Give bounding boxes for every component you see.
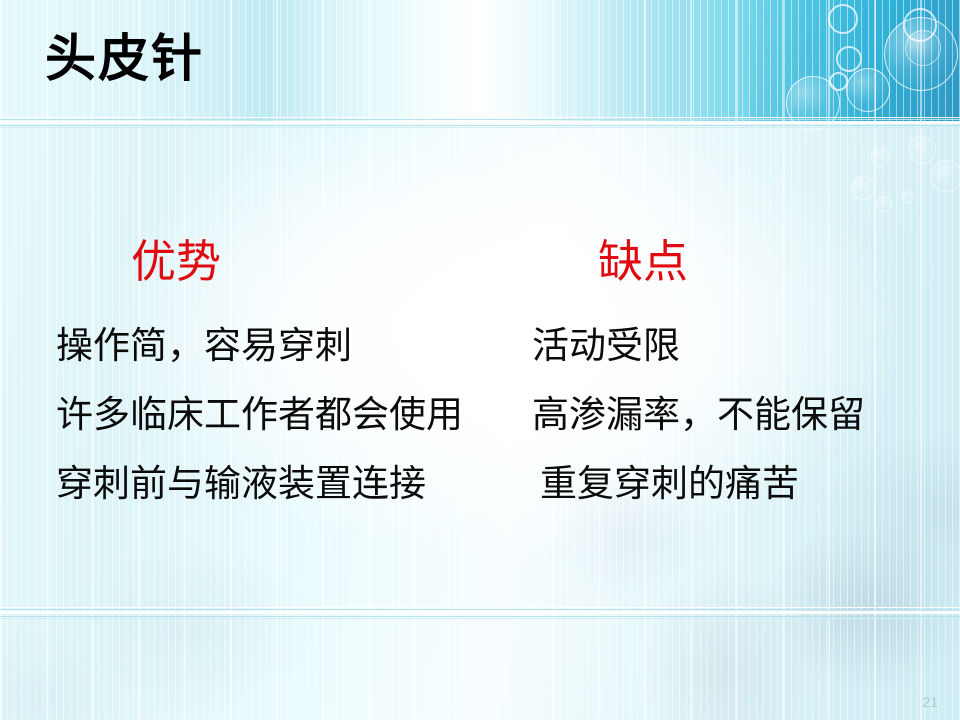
list-item: 活动受限 xyxy=(532,312,865,381)
title-divider-gap xyxy=(0,121,960,124)
title-divider-top-highlight xyxy=(0,117,960,118)
disadvantages-list: 活动受限 高渗漏率，不能保留 重复穿刺的痛苦 xyxy=(532,312,865,519)
list-item: 穿刺前与输液装置连接 xyxy=(56,450,463,519)
footer-divider-top-highlight xyxy=(0,607,960,608)
footer-divider-line-3 xyxy=(0,618,960,619)
title-divider-line-3 xyxy=(0,127,960,128)
list-item: 操作简，容易穿刺 xyxy=(56,312,463,381)
footer-divider-gap xyxy=(0,611,960,614)
title-divider-line-1 xyxy=(0,119,960,120)
footer-divider-line-1 xyxy=(0,609,960,610)
page-number: 21 xyxy=(922,694,938,710)
slide-title: 头皮针 xyxy=(45,31,204,89)
slide-canvas: 头皮针 优势 缺点 操作简，容易穿刺 许多临床工作者都会使用 穿刺前与输液装置连… xyxy=(0,0,960,720)
list-item: 许多临床工作者都会使用 xyxy=(56,381,463,450)
title-divider-line-2 xyxy=(0,125,960,126)
disadvantages-heading: 缺点 xyxy=(598,237,688,287)
advantages-heading: 优势 xyxy=(131,237,221,287)
list-item: 重复穿刺的痛苦 xyxy=(540,450,865,519)
advantages-list: 操作简，容易穿刺 许多临床工作者都会使用 穿刺前与输液装置连接 xyxy=(56,312,463,519)
footer-divider-line-2 xyxy=(0,616,960,617)
list-item: 高渗漏率，不能保留 xyxy=(532,381,865,450)
